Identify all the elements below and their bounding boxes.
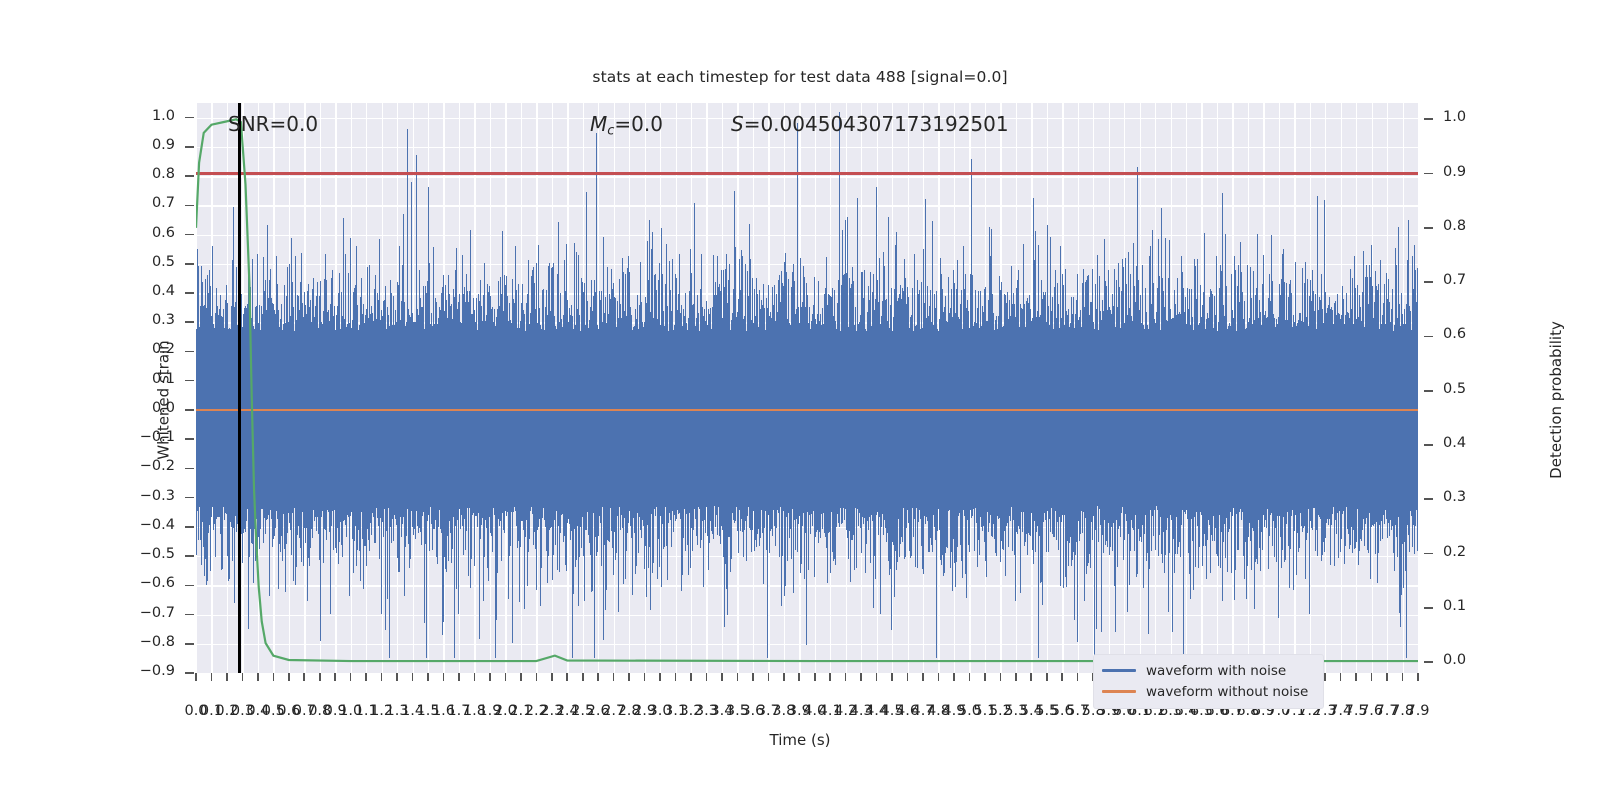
score-symbol: S: [731, 112, 744, 136]
x-tick-mark: [257, 673, 259, 681]
x-tick-mark: [969, 673, 971, 681]
x-tick-mark: [891, 673, 893, 681]
x-tick-mark: [1324, 673, 1326, 681]
y-tick-mark-left: [185, 614, 194, 616]
y-tick-label-left: −0.2: [140, 458, 175, 474]
y-tick-mark-left: [185, 643, 194, 645]
y-axis-label-right: Detection probability: [1547, 321, 1565, 479]
y-tick-label-right: 0.9: [1443, 164, 1466, 180]
x-tick-mark: [520, 673, 522, 681]
x-tick-mark: [953, 673, 955, 681]
y-tick-mark-left: [185, 205, 194, 207]
x-tick-mark: [845, 673, 847, 681]
y-tick-mark-right: [1424, 227, 1433, 229]
x-tick-mark: [350, 673, 352, 681]
series-detection-probability: [196, 103, 1418, 673]
page-title: stats at each timestep for test data 488…: [0, 68, 1600, 86]
x-tick-mark: [489, 673, 491, 681]
y-tick-label-left: 0.4: [152, 283, 175, 299]
x-tick-mark: [195, 673, 197, 681]
y-tick-label-left: −0.7: [140, 605, 175, 621]
x-tick-mark: [505, 673, 507, 681]
x-tick-mark: [876, 673, 878, 681]
y-tick-mark-right: [1424, 444, 1433, 446]
y-tick-label-left: 1.0: [152, 108, 175, 124]
y-tick-label-right: 0.6: [1443, 326, 1466, 342]
legend-swatch-blue: [1102, 669, 1136, 672]
x-tick-mark: [690, 673, 692, 681]
y-tick-mark-left: [185, 175, 194, 177]
y-tick-label-left: −0.3: [140, 488, 175, 504]
annotation-chirp-mass: Mc=0.0: [590, 112, 663, 139]
x-tick-label: 7.9: [1406, 703, 1429, 719]
x-tick-mark: [613, 673, 615, 681]
x-tick-mark: [381, 673, 383, 681]
legend-item-waveform-without-noise: waveform without noise: [1102, 681, 1315, 702]
x-tick-mark: [226, 673, 228, 681]
legend-label-waveform-with-noise: waveform with noise: [1146, 663, 1286, 679]
x-tick-mark: [1355, 673, 1357, 681]
y-tick-label-left: 0.2: [152, 341, 175, 357]
x-tick-mark: [319, 673, 321, 681]
y-tick-mark-left: [185, 263, 194, 265]
y-tick-mark-left: [185, 409, 194, 411]
y-tick-mark-right: [1424, 390, 1433, 392]
x-tick-mark: [829, 673, 831, 681]
y-tick-mark-right: [1424, 498, 1433, 500]
y-tick-label-right: 0.1: [1443, 598, 1466, 614]
y-tick-label-right: 0.4: [1443, 435, 1466, 451]
x-tick-mark: [1000, 673, 1002, 681]
y-tick-mark-left: [185, 234, 194, 236]
x-tick-mark: [1077, 673, 1079, 681]
y-tick-label-left: −0.6: [140, 575, 175, 591]
x-tick-mark: [288, 673, 290, 681]
x-tick-mark: [922, 673, 924, 681]
y-tick-label-right: 1.0: [1443, 109, 1466, 125]
annotation-score: S=0.004504307173192501: [731, 112, 1009, 136]
x-tick-mark: [365, 673, 367, 681]
y-tick-label-right: 0.2: [1443, 544, 1466, 560]
y-tick-mark-right: [1424, 173, 1433, 175]
y-tick-mark-right: [1424, 607, 1433, 609]
x-tick-mark: [907, 673, 909, 681]
x-tick-mark: [721, 673, 723, 681]
x-tick-mark: [242, 673, 244, 681]
y-tick-mark-left: [185, 438, 194, 440]
x-tick-mark: [396, 673, 398, 681]
y-tick-label-left: 0.9: [152, 137, 175, 153]
x-tick-mark: [1046, 673, 1048, 681]
x-tick-mark: [1015, 673, 1017, 681]
y-tick-label-right: 0.7: [1443, 272, 1466, 288]
x-tick-mark: [536, 673, 538, 681]
y-tick-mark-left: [185, 526, 194, 528]
x-tick-mark: [1340, 673, 1342, 681]
y-tick-label-left: 0.0: [152, 400, 175, 416]
x-tick-mark: [211, 673, 213, 681]
x-tick-mark: [984, 673, 986, 681]
y-tick-label-right: 0.0: [1443, 652, 1466, 668]
x-tick-mark: [752, 673, 754, 681]
x-tick-mark: [303, 673, 305, 681]
y-tick-mark-left: [185, 497, 194, 499]
y-tick-label-left: 0.8: [152, 166, 175, 182]
y-tick-mark-left: [185, 292, 194, 294]
chirp-mass-value: =0.0: [614, 112, 663, 136]
legend-label-waveform-without-noise: waveform without noise: [1146, 684, 1308, 700]
x-tick-mark: [273, 673, 275, 681]
x-tick-mark: [675, 673, 677, 681]
x-axis-label: Time (s): [0, 731, 1600, 749]
annotation-snr: SNR=0.0: [228, 112, 318, 136]
x-tick-mark: [1417, 673, 1419, 681]
x-tick-mark: [768, 673, 770, 681]
plot-area[interactable]: SNR=0.0 Mc=0.0 S=0.004504307173192501: [196, 103, 1418, 673]
y-tick-mark-left: [185, 468, 194, 470]
y-tick-mark-left: [185, 321, 194, 323]
y-tick-mark-left: [185, 117, 194, 119]
x-tick-mark: [474, 673, 476, 681]
merger-time-marker: [238, 103, 241, 673]
y-tick-label-left: −0.1: [140, 429, 175, 445]
y-tick-mark-left: [185, 380, 194, 382]
x-tick-mark: [597, 673, 599, 681]
x-tick-mark: [1371, 673, 1373, 681]
y-tick-label-left: 0.7: [152, 195, 175, 211]
x-tick-mark: [582, 673, 584, 681]
legend-item-waveform-with-noise: waveform with noise: [1102, 660, 1315, 681]
y-tick-label-left: −0.5: [140, 546, 175, 562]
y-tick-mark-left: [185, 146, 194, 148]
x-tick-mark: [644, 673, 646, 681]
y-tick-label-left: −0.8: [140, 634, 175, 650]
y-tick-mark-right: [1424, 661, 1433, 663]
x-tick-mark: [1386, 673, 1388, 681]
y-tick-label-left: 0.5: [152, 254, 175, 270]
x-tick-mark: [412, 673, 414, 681]
x-tick-mark: [628, 673, 630, 681]
y-tick-label-right: 0.5: [1443, 381, 1466, 397]
x-tick-mark: [443, 673, 445, 681]
score-value: =0.004504307173192501: [744, 112, 1009, 136]
x-tick-mark: [1030, 673, 1032, 681]
y-tick-label-right: 0.3: [1443, 489, 1466, 505]
figure: stats at each timestep for test data 488…: [0, 0, 1600, 800]
x-tick-mark: [860, 673, 862, 681]
y-tick-mark-right: [1424, 553, 1433, 555]
x-tick-mark: [458, 673, 460, 681]
x-tick-mark: [783, 673, 785, 681]
x-tick-mark: [1402, 673, 1404, 681]
y-tick-mark-right: [1424, 281, 1433, 283]
x-tick-mark: [334, 673, 336, 681]
x-tick-mark: [706, 673, 708, 681]
x-tick-mark: [551, 673, 553, 681]
y-tick-label-left: 0.1: [152, 371, 175, 387]
x-tick-mark: [1061, 673, 1063, 681]
y-tick-mark-left: [185, 351, 194, 353]
y-tick-label-left: 0.6: [152, 225, 175, 241]
x-tick-mark: [427, 673, 429, 681]
x-tick-mark: [938, 673, 940, 681]
x-tick-mark: [566, 673, 568, 681]
detection-probability-path: [196, 119, 1418, 661]
y-tick-mark-right: [1424, 118, 1433, 120]
legend-swatch-orange: [1102, 690, 1136, 693]
y-tick-label-right: 0.8: [1443, 218, 1466, 234]
y-tick-mark-right: [1424, 336, 1433, 338]
y-tick-mark-left: [185, 672, 194, 674]
y-tick-mark-left: [185, 555, 194, 557]
x-tick-mark: [814, 673, 816, 681]
legend: waveform with noise waveform without noi…: [1093, 654, 1324, 709]
y-tick-mark-left: [185, 585, 194, 587]
chirp-mass-symbol: M: [590, 112, 607, 136]
x-tick-mark: [659, 673, 661, 681]
x-tick-mark: [737, 673, 739, 681]
y-tick-label-left: 0.3: [152, 312, 175, 328]
y-tick-label-left: −0.4: [140, 517, 175, 533]
x-tick-mark: [798, 673, 800, 681]
y-tick-label-left: −0.9: [140, 663, 175, 679]
